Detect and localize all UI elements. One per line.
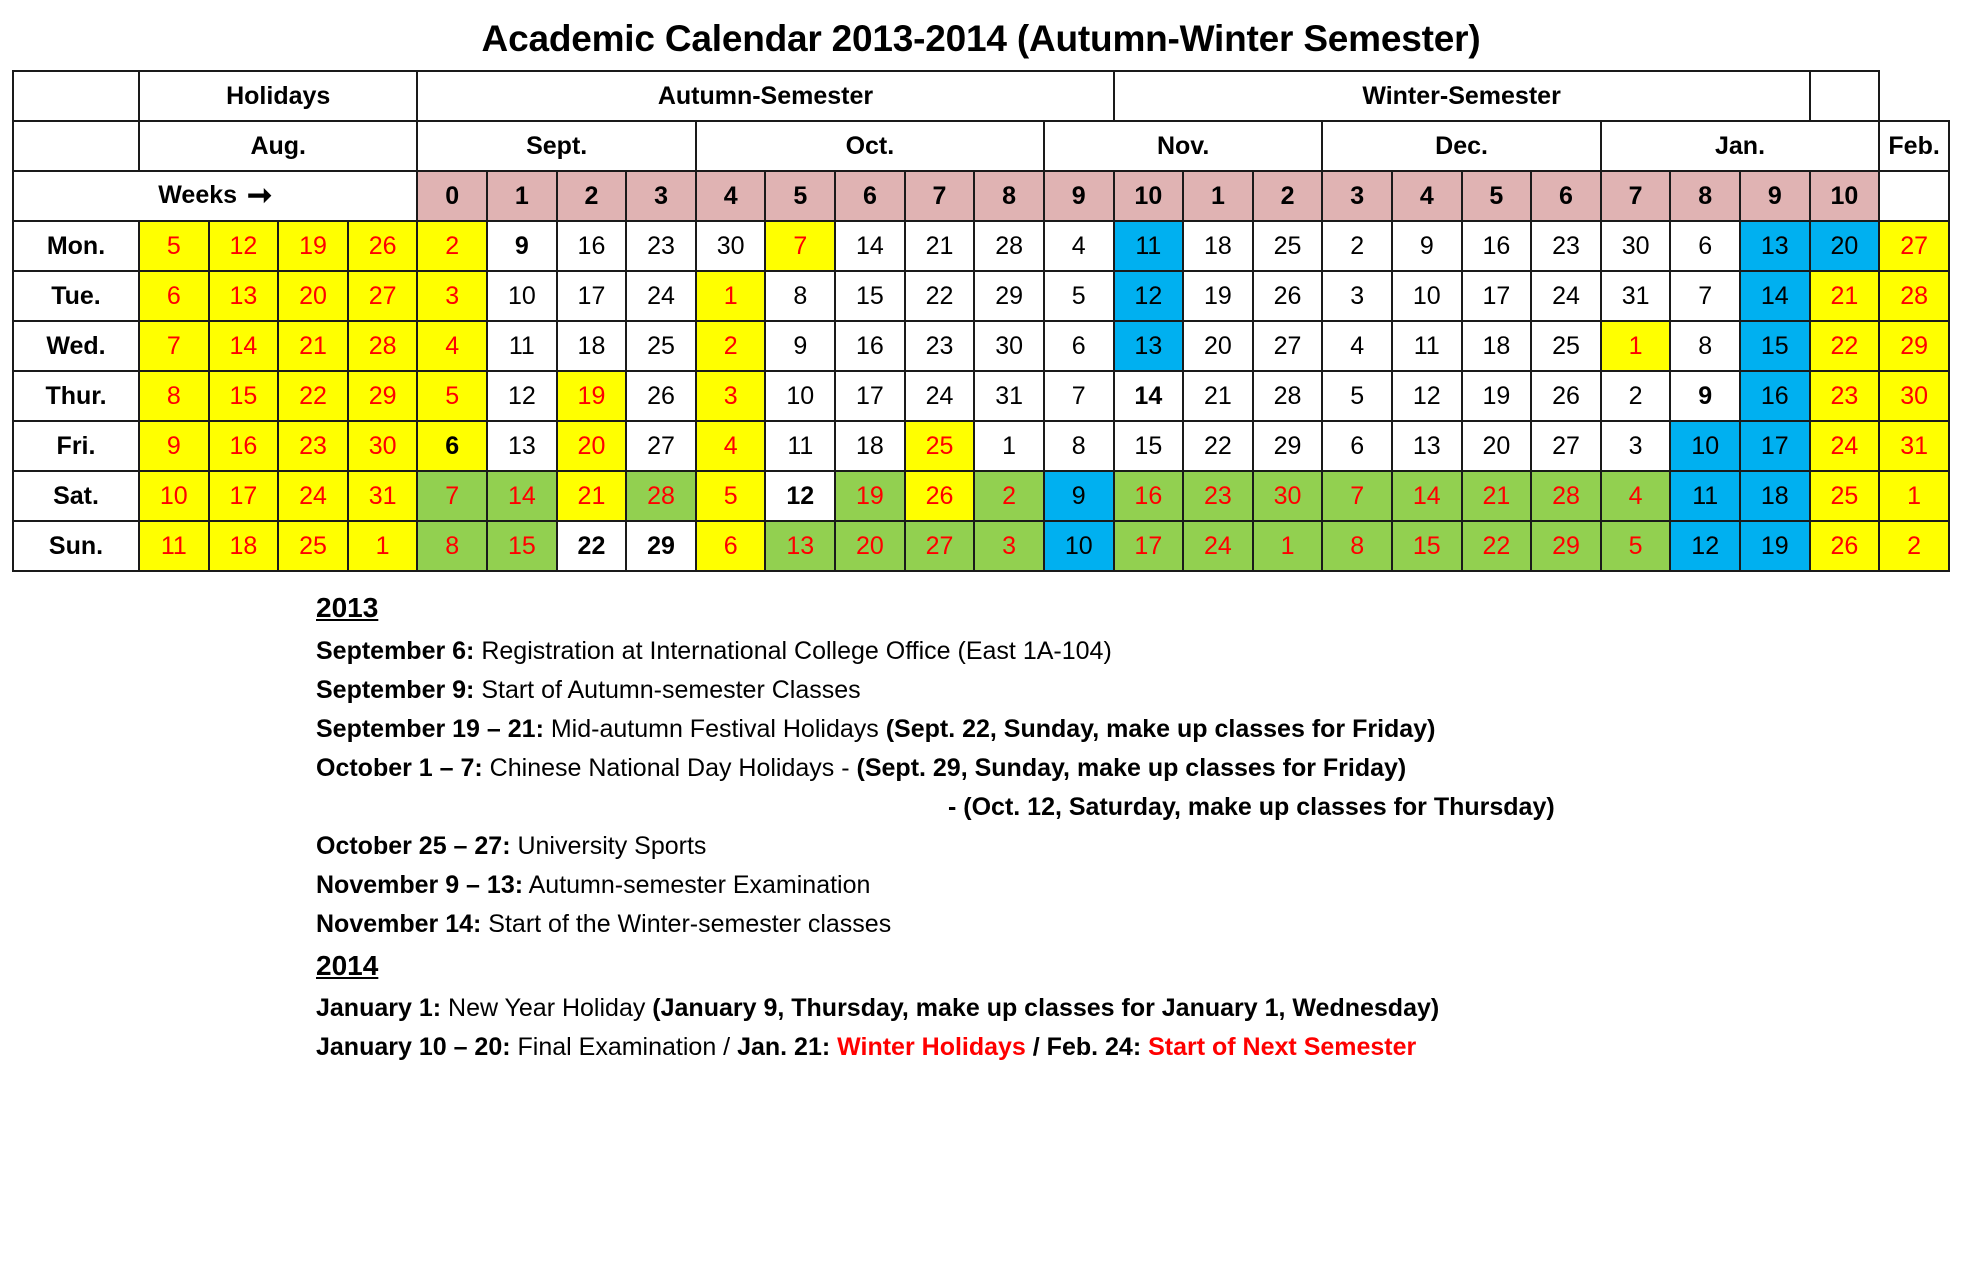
date-cell: 13 [1740, 221, 1810, 271]
week-number-row: Weeks➞01234567891012345678910 [13, 171, 1949, 221]
date-cell: 12 [487, 371, 557, 421]
arrow-right-icon: ➞ [247, 181, 272, 211]
date-cell: 14 [209, 321, 279, 371]
date-cell: 22 [557, 521, 627, 571]
date-cell: 27 [348, 271, 418, 321]
date-cell: 24 [1183, 521, 1253, 571]
date-cell: 25 [1253, 221, 1323, 271]
note-bold-tail: (Sept. 22, Sunday, make up classes for F… [886, 715, 1436, 743]
note-text: Chinese National Day Holidays - [483, 754, 857, 782]
date-cell: 29 [626, 521, 696, 571]
note-text: Registration at International College Of… [474, 637, 1111, 665]
date-cell: 20 [1183, 321, 1253, 371]
week-number-5-5: 5 [765, 171, 835, 221]
week-number-0-0: 0 [417, 171, 487, 221]
date-cell: 21 [905, 221, 975, 271]
semester-band-winter-semester: Winter-Semester [1114, 71, 1810, 121]
date-cell: 28 [1253, 371, 1323, 421]
date-cell: 21 [1810, 271, 1880, 321]
date-cell: 23 [278, 421, 348, 471]
date-cell: 19 [835, 471, 905, 521]
date-cell: 10 [139, 471, 209, 521]
calendar-row-tue: Tue.613202731017241815222951219263101724… [13, 271, 1949, 321]
date-cell: 13 [209, 271, 279, 321]
date-cell: 30 [348, 421, 418, 471]
date-cell: 12 [209, 221, 279, 271]
date-cell: 17 [835, 371, 905, 421]
date-cell: 1 [1253, 521, 1323, 571]
semester-band-empty [13, 71, 139, 121]
semester-band-row: HolidaysAutumn-SemesterWinter-Semester [13, 71, 1949, 121]
date-cell: 5 [1044, 271, 1114, 321]
date-cell: 2 [1322, 221, 1392, 271]
date-cell: 17 [209, 471, 279, 521]
date-cell: 20 [557, 421, 627, 471]
date-cell: 13 [487, 421, 557, 471]
date-cell: 8 [417, 521, 487, 571]
date-cell: 27 [1253, 321, 1323, 371]
date-cell: 3 [1322, 271, 1392, 321]
week-number-8-8: 8 [974, 171, 1044, 221]
note-line: September 9: Start of Autumn-semester Cl… [316, 671, 1962, 710]
date-cell: 21 [557, 471, 627, 521]
note-line: January 1: New Year Holiday (January 9, … [316, 989, 1962, 1028]
date-cell: 22 [278, 371, 348, 421]
date-cell: 2 [1879, 521, 1949, 571]
date-cell: 28 [348, 321, 418, 371]
note-text: New Year Holiday [441, 994, 652, 1022]
date-cell: 9 [139, 421, 209, 471]
date-cell: 5 [696, 471, 766, 521]
date-cell: 15 [1740, 321, 1810, 371]
date-cell: 6 [417, 421, 487, 471]
academic-calendar-page: Academic Calendar 2013-2014 (Autumn-Wint… [0, 0, 1962, 1277]
note-label: September 9: [316, 676, 474, 704]
date-cell: 4 [417, 321, 487, 371]
date-cell: 8 [1044, 421, 1114, 471]
date-cell: 28 [974, 221, 1044, 271]
date-cell: 17 [1462, 271, 1532, 321]
date-cell: 8 [1670, 321, 1740, 371]
note-text: Autumn-semester Examination [523, 871, 870, 899]
date-cell: 17 [1740, 421, 1810, 471]
date-cell: 16 [209, 421, 279, 471]
note-line: October 1 – 7: Chinese National Day Holi… [316, 749, 1962, 788]
day-label-wed: Wed. [13, 321, 139, 371]
date-cell: 5 [417, 371, 487, 421]
day-label-mon: Mon. [13, 221, 139, 271]
date-cell: 18 [1740, 471, 1810, 521]
note-line: September 19 – 21: Mid-autumn Festival H… [316, 710, 1962, 749]
notes-list-2013: September 6: Registration at Internation… [316, 632, 1962, 944]
date-cell: 23 [1183, 471, 1253, 521]
week-number-3-13: 3 [1322, 171, 1392, 221]
date-cell: 28 [1531, 471, 1601, 521]
week-number-7-17: 7 [1601, 171, 1671, 221]
day-label-fri: Fri. [13, 421, 139, 471]
date-cell: 7 [1044, 371, 1114, 421]
week-number-9-9: 9 [1044, 171, 1114, 221]
date-cell: 16 [1462, 221, 1532, 271]
date-cell: 6 [1322, 421, 1392, 471]
date-cell: 21 [1183, 371, 1253, 421]
date-cell: 11 [487, 321, 557, 371]
week-number-8-18: 8 [1670, 171, 1740, 221]
date-cell: 31 [1879, 421, 1949, 471]
calendar-row-sat: Sat.101724317142128512192629162330714212… [13, 471, 1949, 521]
date-cell: 12 [1114, 271, 1184, 321]
date-cell: 24 [278, 471, 348, 521]
date-cell: 11 [1392, 321, 1462, 371]
date-cell: 13 [1114, 321, 1184, 371]
academic-calendar-table: HolidaysAutumn-SemesterWinter-Semester A… [12, 70, 1950, 572]
week-number-empty [1879, 171, 1949, 221]
weeks-label: Weeks➞ [13, 171, 417, 221]
date-cell: 6 [1044, 321, 1114, 371]
calendar-row-fri: Fri.916233061320274111825181522296132027… [13, 421, 1949, 471]
date-cell: 27 [626, 421, 696, 471]
date-cell: 20 [1810, 221, 1880, 271]
month-header-sept: Sept. [417, 121, 695, 171]
week-number-10-10: 10 [1114, 171, 1184, 221]
date-cell: 31 [974, 371, 1044, 421]
notes-year-2014: 2014 [316, 944, 1962, 988]
date-cell: 10 [1670, 421, 1740, 471]
date-cell: 1 [696, 271, 766, 321]
date-cell: 23 [626, 221, 696, 271]
date-cell: 21 [1462, 471, 1532, 521]
date-cell: 23 [905, 321, 975, 371]
note-text: Mid-autumn Festival Holidays [544, 715, 886, 743]
date-cell: 19 [1462, 371, 1532, 421]
date-cell: 18 [209, 521, 279, 571]
date-cell: 4 [1322, 321, 1392, 371]
date-cell: 10 [1392, 271, 1462, 321]
note-line: September 6: Registration at Internation… [316, 632, 1962, 671]
date-cell: 3 [1601, 421, 1671, 471]
note-label: November 14: [316, 910, 481, 938]
date-cell: 10 [765, 371, 835, 421]
note-label: September 19 – 21: [316, 715, 544, 743]
note-highlight-winter-holidays: Winter Holidays [837, 1033, 1026, 1061]
date-cell: 20 [835, 521, 905, 571]
date-cell: 21 [278, 321, 348, 371]
date-cell: 18 [1462, 321, 1532, 371]
date-cell: 7 [417, 471, 487, 521]
date-cell: 23 [1810, 371, 1880, 421]
date-cell: 27 [1879, 221, 1949, 271]
date-cell: 11 [1114, 221, 1184, 271]
date-cell: 23 [1531, 221, 1601, 271]
date-cell: 9 [487, 221, 557, 271]
date-cell: 15 [487, 521, 557, 571]
calendar-day-rows: Mon.512192629162330714212841118252916233… [13, 221, 1949, 571]
note-indent-line: - (Oct. 12, Saturday, make up classes fo… [316, 788, 1962, 827]
date-cell: 29 [1531, 521, 1601, 571]
date-cell: 28 [1879, 271, 1949, 321]
date-cell: 18 [1183, 221, 1253, 271]
month-header-aug: Aug. [139, 121, 417, 171]
month-header-jan: Jan. [1601, 121, 1879, 171]
day-label-sun: Sun. [13, 521, 139, 571]
date-cell: 30 [696, 221, 766, 271]
note-bold-tail: (Sept. 29, Sunday, make up classes for F… [857, 754, 1407, 782]
month-header-dec: Dec. [1322, 121, 1600, 171]
date-cell: 25 [278, 521, 348, 571]
calendar-row-sun: Sun.111825181522296132027310172418152229… [13, 521, 1949, 571]
week-number-10-20: 10 [1810, 171, 1880, 221]
date-cell: 31 [1601, 271, 1671, 321]
date-cell: 18 [835, 421, 905, 471]
note-label: January 1: [316, 994, 441, 1022]
date-cell: 22 [905, 271, 975, 321]
date-cell: 7 [1670, 271, 1740, 321]
date-cell: 6 [1670, 221, 1740, 271]
date-cell: 19 [557, 371, 627, 421]
date-cell: 7 [1322, 471, 1392, 521]
week-number-9-19: 9 [1740, 171, 1810, 221]
date-cell: 17 [557, 271, 627, 321]
date-cell: 10 [1044, 521, 1114, 571]
date-cell: 11 [1670, 471, 1740, 521]
date-cell: 25 [1810, 471, 1880, 521]
date-cell: 13 [1392, 421, 1462, 471]
week-number-5-15: 5 [1462, 171, 1532, 221]
month-header-oct: Oct. [696, 121, 1044, 171]
date-cell: 9 [765, 321, 835, 371]
notes-section: 2013 September 6: Registration at Intern… [0, 586, 1962, 1067]
date-cell: 12 [1670, 521, 1740, 571]
date-cell: 19 [1740, 521, 1810, 571]
date-cell: 4 [1044, 221, 1114, 271]
date-cell: 26 [1810, 521, 1880, 571]
date-cell: 16 [1114, 471, 1184, 521]
date-cell: 24 [1810, 421, 1880, 471]
date-cell: 16 [835, 321, 905, 371]
date-cell: 11 [139, 521, 209, 571]
calendar-row-wed: Wed.714212841118252916233061320274111825… [13, 321, 1949, 371]
date-cell: 2 [1601, 371, 1671, 421]
date-cell: 9 [1392, 221, 1462, 271]
date-cell: 28 [626, 471, 696, 521]
note-label: January 10 – 20: [316, 1033, 511, 1061]
date-cell: 22 [1183, 421, 1253, 471]
note-line: October 25 – 27: University Sports [316, 827, 1962, 866]
week-number-7-7: 7 [905, 171, 975, 221]
date-cell: 3 [696, 371, 766, 421]
date-cell: 4 [1601, 471, 1671, 521]
week-number-3-3: 3 [626, 171, 696, 221]
date-cell: 27 [905, 521, 975, 571]
date-cell: 15 [835, 271, 905, 321]
date-cell: 26 [905, 471, 975, 521]
date-cell: 29 [974, 271, 1044, 321]
note-label: November 9 – 13: [316, 871, 523, 899]
semester-band-holidays: Holidays [139, 71, 417, 121]
date-cell: 3 [974, 521, 1044, 571]
date-cell: 2 [974, 471, 1044, 521]
date-cell: 8 [1322, 521, 1392, 571]
day-label-sat: Sat. [13, 471, 139, 521]
date-cell: 16 [1740, 371, 1810, 421]
date-cell: 24 [1531, 271, 1601, 321]
week-number-4-14: 4 [1392, 171, 1462, 221]
date-cell: 25 [1531, 321, 1601, 371]
weeks-label-text: Weeks [158, 181, 237, 209]
date-cell: 12 [765, 471, 835, 521]
notes-list-2014: January 1: New Year Holiday (January 9, … [316, 989, 1962, 1067]
date-cell: 8 [139, 371, 209, 421]
date-cell: 4 [696, 421, 766, 471]
week-number-2-2: 2 [557, 171, 627, 221]
week-number-1-1: 1 [487, 171, 557, 221]
month-header-feb: Feb. [1879, 121, 1949, 171]
note-highlight-next-semester: Start of Next Semester [1148, 1033, 1416, 1061]
date-cell: 19 [1183, 271, 1253, 321]
date-cell: 8 [765, 271, 835, 321]
date-cell: 7 [139, 321, 209, 371]
date-cell: 1 [348, 521, 418, 571]
note-line: November 9 – 13: Autumn-semester Examina… [316, 866, 1962, 905]
date-cell: 14 [835, 221, 905, 271]
date-cell: 19 [278, 221, 348, 271]
date-cell: 9 [1044, 471, 1114, 521]
note-text: University Sports [511, 832, 707, 860]
note-bold-tail: (January 9, Thursday, make up classes fo… [652, 994, 1439, 1022]
note-label: October 25 – 27: [316, 832, 511, 860]
date-cell: 2 [696, 321, 766, 371]
date-cell: 13 [765, 521, 835, 571]
semester-band-empty [1810, 71, 1880, 121]
date-cell: 22 [1810, 321, 1880, 371]
note-text: Final Examination / [511, 1033, 738, 1061]
week-number-6-16: 6 [1531, 171, 1601, 221]
date-cell: 6 [696, 521, 766, 571]
month-header-empty [13, 121, 139, 171]
date-cell: 20 [1462, 421, 1532, 471]
date-cell: 25 [626, 321, 696, 371]
date-cell: 14 [487, 471, 557, 521]
note-line: January 10 – 20: Final Examination / Jan… [316, 1028, 1962, 1067]
day-label-thur: Thur. [13, 371, 139, 421]
date-cell: 31 [348, 471, 418, 521]
week-number-6-6: 6 [835, 171, 905, 221]
date-cell: 3 [417, 271, 487, 321]
date-cell: 15 [1114, 421, 1184, 471]
note-text: Start of the Winter-semester classes [481, 910, 891, 938]
date-cell: 29 [1253, 421, 1323, 471]
date-cell: 14 [1114, 371, 1184, 421]
week-number-2-12: 2 [1253, 171, 1323, 221]
day-label-tue: Tue. [13, 271, 139, 321]
date-cell: 26 [626, 371, 696, 421]
date-cell: 30 [1601, 221, 1671, 271]
date-cell: 22 [1462, 521, 1532, 571]
date-cell: 18 [557, 321, 627, 371]
date-cell: 6 [139, 271, 209, 321]
date-cell: 29 [348, 371, 418, 421]
date-cell: 27 [1531, 421, 1601, 471]
date-cell: 26 [1253, 271, 1323, 321]
date-cell: 26 [348, 221, 418, 271]
note-label: September 6: [316, 637, 474, 665]
week-number-1-11: 1 [1183, 171, 1253, 221]
semester-band-autumn-semester: Autumn-Semester [417, 71, 1113, 121]
date-cell: 2 [417, 221, 487, 271]
note-label: October 1 – 7: [316, 754, 483, 782]
week-number-4-4: 4 [696, 171, 766, 221]
date-cell: 5 [1601, 521, 1671, 571]
date-cell: 16 [557, 221, 627, 271]
date-cell: 20 [278, 271, 348, 321]
date-cell: 9 [1670, 371, 1740, 421]
date-cell: 12 [1392, 371, 1462, 421]
month-header-nov: Nov. [1044, 121, 1322, 171]
date-cell: 5 [1322, 371, 1392, 421]
note-text: Start of Autumn-semester Classes [474, 676, 860, 704]
date-cell: 30 [1253, 471, 1323, 521]
calendar-row-mon: Mon.512192629162330714212841118252916233… [13, 221, 1949, 271]
note-line: November 14: Start of the Winter-semeste… [316, 905, 1962, 944]
date-cell: 1 [1601, 321, 1671, 371]
date-cell: 7 [765, 221, 835, 271]
date-cell: 24 [626, 271, 696, 321]
date-cell: 30 [1879, 371, 1949, 421]
date-cell: 14 [1740, 271, 1810, 321]
date-cell: 17 [1114, 521, 1184, 571]
date-cell: 11 [765, 421, 835, 471]
date-cell: 15 [209, 371, 279, 421]
calendar-row-thur: Thur.81522295121926310172431714212851219… [13, 371, 1949, 421]
date-cell: 1 [1879, 471, 1949, 521]
notes-year-2013: 2013 [316, 586, 1962, 630]
date-cell: 30 [974, 321, 1044, 371]
page-title: Academic Calendar 2013-2014 (Autumn-Wint… [0, 0, 1962, 70]
month-header-row: Aug.Sept.Oct.Nov.Dec.Jan.Feb. [13, 121, 1949, 171]
note-bold-mid-2: / Feb. 24: [1026, 1033, 1148, 1061]
date-cell: 15 [1392, 521, 1462, 571]
date-cell: 14 [1392, 471, 1462, 521]
date-cell: 1 [974, 421, 1044, 471]
note-bold-mid: Jan. 21: [737, 1033, 837, 1061]
date-cell: 29 [1879, 321, 1949, 371]
date-cell: 5 [139, 221, 209, 271]
date-cell: 26 [1531, 371, 1601, 421]
date-cell: 10 [487, 271, 557, 321]
date-cell: 24 [905, 371, 975, 421]
date-cell: 25 [905, 421, 975, 471]
